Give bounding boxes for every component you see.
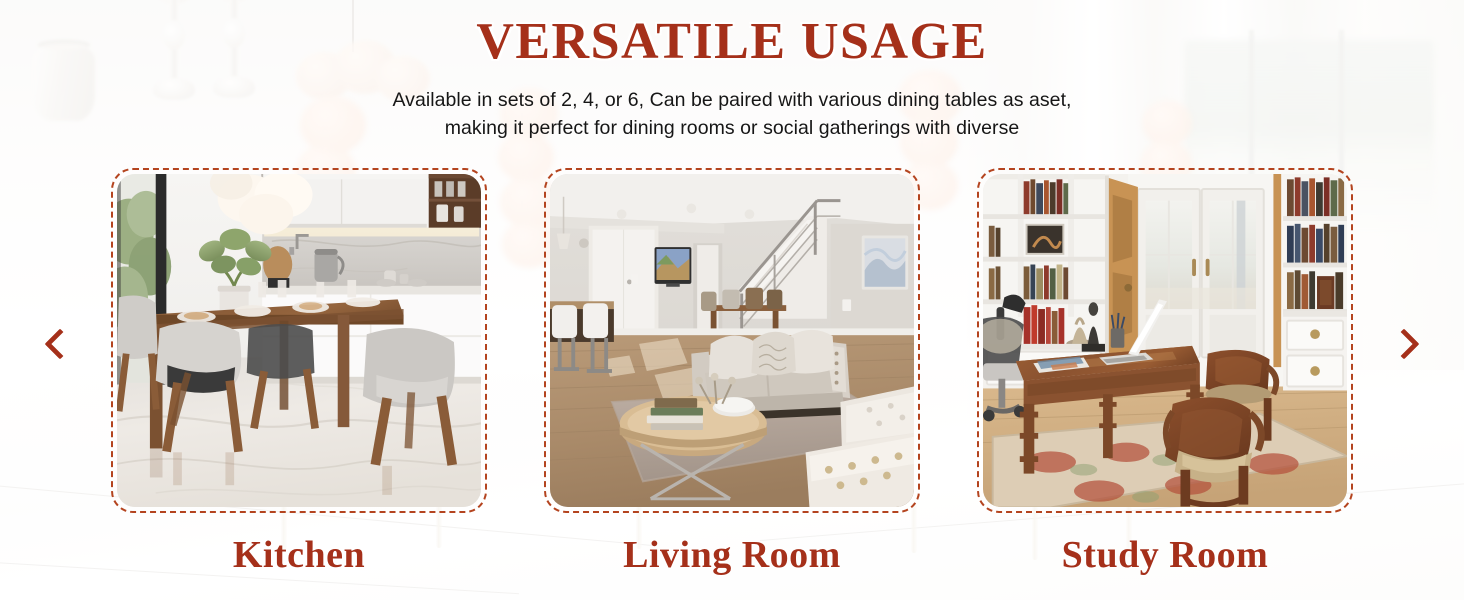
room-card-kitchen[interactable]: Kitchen: [111, 168, 487, 577]
photo-frame: [544, 168, 920, 513]
room-card-living-room[interactable]: Living Room: [544, 168, 920, 577]
page-title: VERSATILE USAGE: [0, 16, 1464, 68]
room-card-caption: Study Room: [977, 533, 1353, 577]
subtitle-line-1: Available in sets of 2, 4, or 6, Can be …: [0, 86, 1464, 114]
room-card-list: Kitchen: [0, 168, 1464, 577]
versatile-usage-section: VERSATILE USAGE Available in sets of 2, …: [0, 0, 1464, 600]
kitchen-photo: [117, 174, 481, 507]
subtitle-line-2: making it perfect for dining rooms or so…: [0, 114, 1464, 142]
photo-frame: [111, 168, 487, 513]
room-card-caption: Living Room: [544, 533, 920, 577]
room-card-caption: Kitchen: [111, 533, 487, 577]
living-room-photo: [550, 174, 914, 507]
page-subtitle: Available in sets of 2, 4, or 6, Can be …: [0, 86, 1464, 142]
photo-frame: [977, 168, 1353, 513]
study-room-photo: [983, 174, 1347, 507]
room-card-study-room[interactable]: Study Room: [977, 168, 1353, 577]
